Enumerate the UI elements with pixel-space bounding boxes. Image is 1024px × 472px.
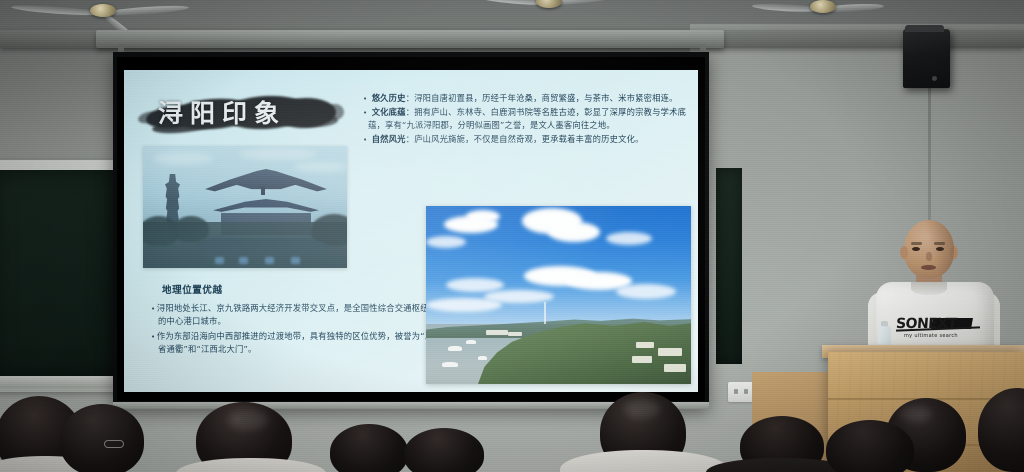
slide-bullets-top: 悠久历史：浔阳自唐初置县，历经千年沧桑，商贸繁盛，与茶市、米市紧密相连。 文化底… — [363, 92, 693, 147]
student-head — [60, 404, 144, 472]
student-head — [826, 420, 914, 472]
bullet-text: 浔阳地处长江、京九铁路两大经济开发带交叉点，是全国性综合交通枢纽和长江中游的中心… — [157, 303, 471, 326]
slide-title: 浔阳印象 — [158, 94, 328, 134]
bullet-text: 拥有庐山、东林寺、白鹿洞书院等名胜古迹，彰显了深厚的宗教与学术底蕴，享有“九派浔… — [368, 107, 686, 130]
bullet-item: 悠久历史：浔阳自唐初置县，历经千年沧桑，商贸繁盛，与茶市、米市紧密相连。 — [363, 92, 693, 105]
bullet-item: 自然风光：庐山风光旖旎，不仅是自然奇观，更承载着丰富的历史文化。 — [363, 133, 693, 146]
riverside-landscape-photo — [426, 206, 691, 384]
bullet-item: 文化底蕴：拥有庐山、东林寺、白鹿洞书院等名胜古迹，彰显了深厚的宗教与学术底蕴，享… — [363, 106, 693, 132]
blackboard-right — [716, 168, 742, 364]
speaker-led — [932, 76, 937, 81]
shirt-graphic: SONEXT my ultimate search — [896, 316, 978, 342]
screen-surface: 浔阳印象 — [117, 57, 705, 401]
bullet-label: 悠久历史 — [372, 93, 406, 103]
screen-housing — [96, 30, 724, 48]
student-head — [330, 424, 408, 472]
presenter-collar — [911, 282, 947, 295]
slide-subheading: 地理位置优越 — [162, 282, 223, 296]
bullet-text: 浔阳自唐初置县，历经千年沧桑，商贸繁盛，与茶市、米市紧密相连。 — [414, 93, 677, 103]
photo-antenna — [544, 302, 546, 324]
presentation-slide: 浔阳印象 — [124, 70, 698, 392]
shirt-logo-subtext: my ultimate search — [904, 333, 958, 339]
wall-outlet[interactable] — [728, 382, 755, 402]
wall-speaker — [903, 29, 950, 88]
speaker-top — [905, 25, 944, 32]
eyeglasses — [104, 440, 124, 448]
bullet-text: 庐山风光旖旎，不仅是自然奇观，更承载着丰富的历史文化。 — [414, 134, 643, 144]
classroom-scene: 一组 浔阳印象 文化底蕴 自然风光 交流讨论 — [0, 0, 1024, 472]
bullet-label: 文化底蕴 — [372, 107, 406, 117]
projection-screen: 浔阳印象 — [113, 52, 709, 408]
bullet-label: 自然风光 — [372, 134, 406, 144]
student-head — [404, 428, 484, 472]
chalk-ledge — [0, 376, 122, 388]
blackboard: 一组 浔阳印象 文化底蕴 自然风光 交流讨论 — [0, 170, 114, 376]
temple-pagoda-photo — [143, 146, 347, 268]
